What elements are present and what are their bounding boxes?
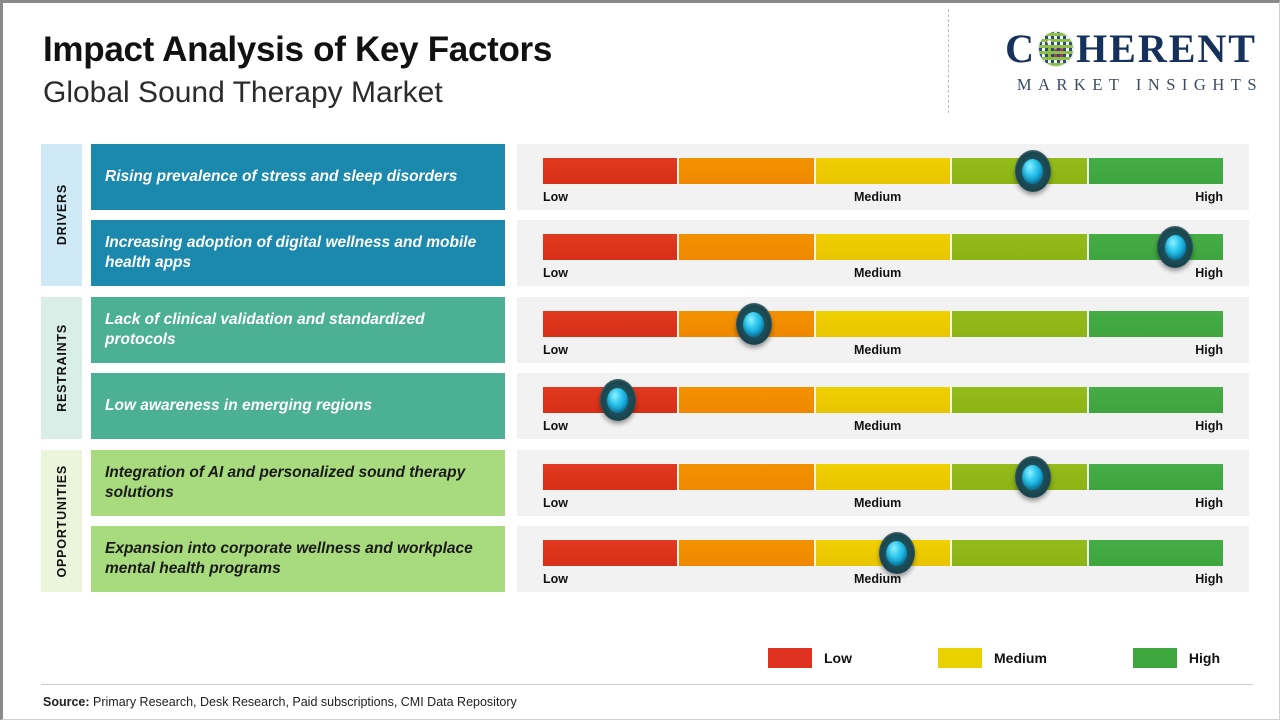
table-row: Integration of AI and personalized sound… [91,450,1249,516]
impact-bar [543,464,1223,490]
brand-logo: C HERENT MARKET INSIGHTS [1005,29,1257,95]
category-label-drivers: DRIVERS [41,144,82,286]
scale-label-high: High [1195,343,1223,357]
legend-swatch-high [1133,648,1177,668]
scale-label-low: Low [543,266,568,280]
segment-medium [816,311,950,337]
impact-matrix: DRIVERS Rising prevalence of stress and … [41,144,1249,592]
logo-tagline: MARKET INSIGHTS [1005,75,1263,95]
segment-medium [816,540,950,566]
table-row: Expansion into corporate wellness and wo… [91,526,1249,592]
factor-box[interactable]: Expansion into corporate wellness and wo… [91,526,505,592]
source-text: Primary Research, Desk Research, Paid su… [93,695,517,709]
scale-label-high: High [1195,190,1223,204]
impact-scale[interactable]: Low Medium High [517,373,1249,439]
legend: Low Medium High [768,648,1220,668]
segment-low [543,158,677,184]
factor-box[interactable]: Low awareness in emerging regions [91,373,505,439]
scale-label-high: High [1195,266,1223,280]
legend-label-low: Low [824,650,852,666]
scale-labels: Low Medium High [543,496,1223,510]
scale-label-low: Low [543,496,568,510]
legend-swatch-medium [938,648,982,668]
scale-label-medium: Medium [854,496,901,510]
footer-divider [41,684,1253,685]
segment-medium-high [952,158,1086,184]
factor-box[interactable]: Lack of clinical validation and standard… [91,297,505,363]
factor-box[interactable]: Increasing adoption of digital wellness … [91,220,505,286]
factor-box[interactable]: Rising prevalence of stress and sleep di… [91,144,505,210]
scale-label-low: Low [543,343,568,357]
impact-bar [543,540,1223,566]
logo-divider [948,9,949,113]
scale-labels: Low Medium High [543,266,1223,280]
segment-high [1089,234,1223,260]
segment-medium [816,234,950,260]
scale-label-high: High [1195,496,1223,510]
impact-scale[interactable]: Low Medium High [517,144,1249,210]
segment-medium [816,387,950,413]
logo-word-right: HERENT [1076,29,1257,69]
legend-swatch-low [768,648,812,668]
segment-medium-high [952,311,1086,337]
legend-item-medium: Medium [938,648,1047,668]
impact-scale[interactable]: Low Medium High [517,220,1249,286]
scale-label-medium: Medium [854,343,901,357]
table-row: Increasing adoption of digital wellness … [91,220,1249,286]
scale-labels: Low Medium High [543,419,1223,433]
logo-word-left: C [1005,29,1036,69]
source-note: Source: Primary Research, Desk Research,… [43,695,517,709]
segment-low-medium [679,158,813,184]
scale-label-medium: Medium [854,419,901,433]
category-name: DRIVERS [55,184,69,245]
segment-high [1089,540,1223,566]
category-name: RESTRAINTS [55,324,69,412]
segment-low-medium [679,311,813,337]
segment-low [543,464,677,490]
category-name: OPPORTUNITIES [55,465,69,578]
category-group-drivers: DRIVERS Rising prevalence of stress and … [41,144,1249,286]
segment-high [1089,311,1223,337]
legend-label-medium: Medium [994,650,1047,666]
segment-low-medium [679,540,813,566]
impact-bar [543,387,1223,413]
legend-item-low: Low [768,648,852,668]
segment-low-medium [679,234,813,260]
scale-labels: Low Medium High [543,572,1223,586]
impact-bar [543,234,1223,260]
page-title: Impact Analysis of Key Factors [43,31,552,69]
page-subtitle: Global Sound Therapy Market [43,76,552,111]
category-label-restraints: RESTRAINTS [41,297,82,439]
segment-medium-high [952,540,1086,566]
source-label: Source: [43,695,90,709]
category-rows: Lack of clinical validation and standard… [91,297,1249,439]
segment-medium-high [952,234,1086,260]
header: Impact Analysis of Key Factors Global So… [43,31,552,110]
segment-medium-high [952,464,1086,490]
segment-medium [816,158,950,184]
scale-label-low: Low [543,190,568,204]
segment-medium-high [952,387,1086,413]
scale-label-low: Low [543,572,568,586]
logo-wordmark: C HERENT [1005,29,1257,69]
scale-label-high: High [1195,572,1223,586]
segment-low [543,387,677,413]
scale-label-low: Low [543,419,568,433]
legend-label-high: High [1189,650,1220,666]
category-group-restraints: RESTRAINTS Lack of clinical validation a… [41,297,1249,439]
legend-item-high: High [1133,648,1220,668]
table-row: Rising prevalence of stress and sleep di… [91,144,1249,210]
category-label-opportunities: OPPORTUNITIES [41,450,82,592]
segment-high [1089,158,1223,184]
dotted-globe-icon [1038,31,1074,67]
segment-low-medium [679,464,813,490]
scale-labels: Low Medium High [543,190,1223,204]
table-row: Lack of clinical validation and standard… [91,297,1249,363]
category-group-opportunities: OPPORTUNITIES Integration of AI and pers… [41,450,1249,592]
scale-label-high: High [1195,419,1223,433]
scale-label-medium: Medium [854,190,901,204]
scale-label-medium: Medium [854,266,901,280]
impact-scale[interactable]: Low Medium High [517,526,1249,592]
category-rows: Rising prevalence of stress and sleep di… [91,144,1249,286]
factor-box[interactable]: Integration of AI and personalized sound… [91,450,505,516]
impact-scale[interactable]: Low Medium High [517,297,1249,363]
segment-medium [816,464,950,490]
category-rows: Integration of AI and personalized sound… [91,450,1249,592]
segment-low [543,234,677,260]
slide-canvas: Impact Analysis of Key Factors Global So… [0,0,1280,720]
segment-high [1089,464,1223,490]
impact-bar [543,158,1223,184]
impact-bar [543,311,1223,337]
segment-low-medium [679,387,813,413]
scale-label-medium: Medium [854,572,901,586]
segment-high [1089,387,1223,413]
table-row: Low awareness in emerging regions Low [91,373,1249,439]
scale-labels: Low Medium High [543,343,1223,357]
segment-low [543,311,677,337]
segment-low [543,540,677,566]
impact-scale[interactable]: Low Medium High [517,450,1249,516]
